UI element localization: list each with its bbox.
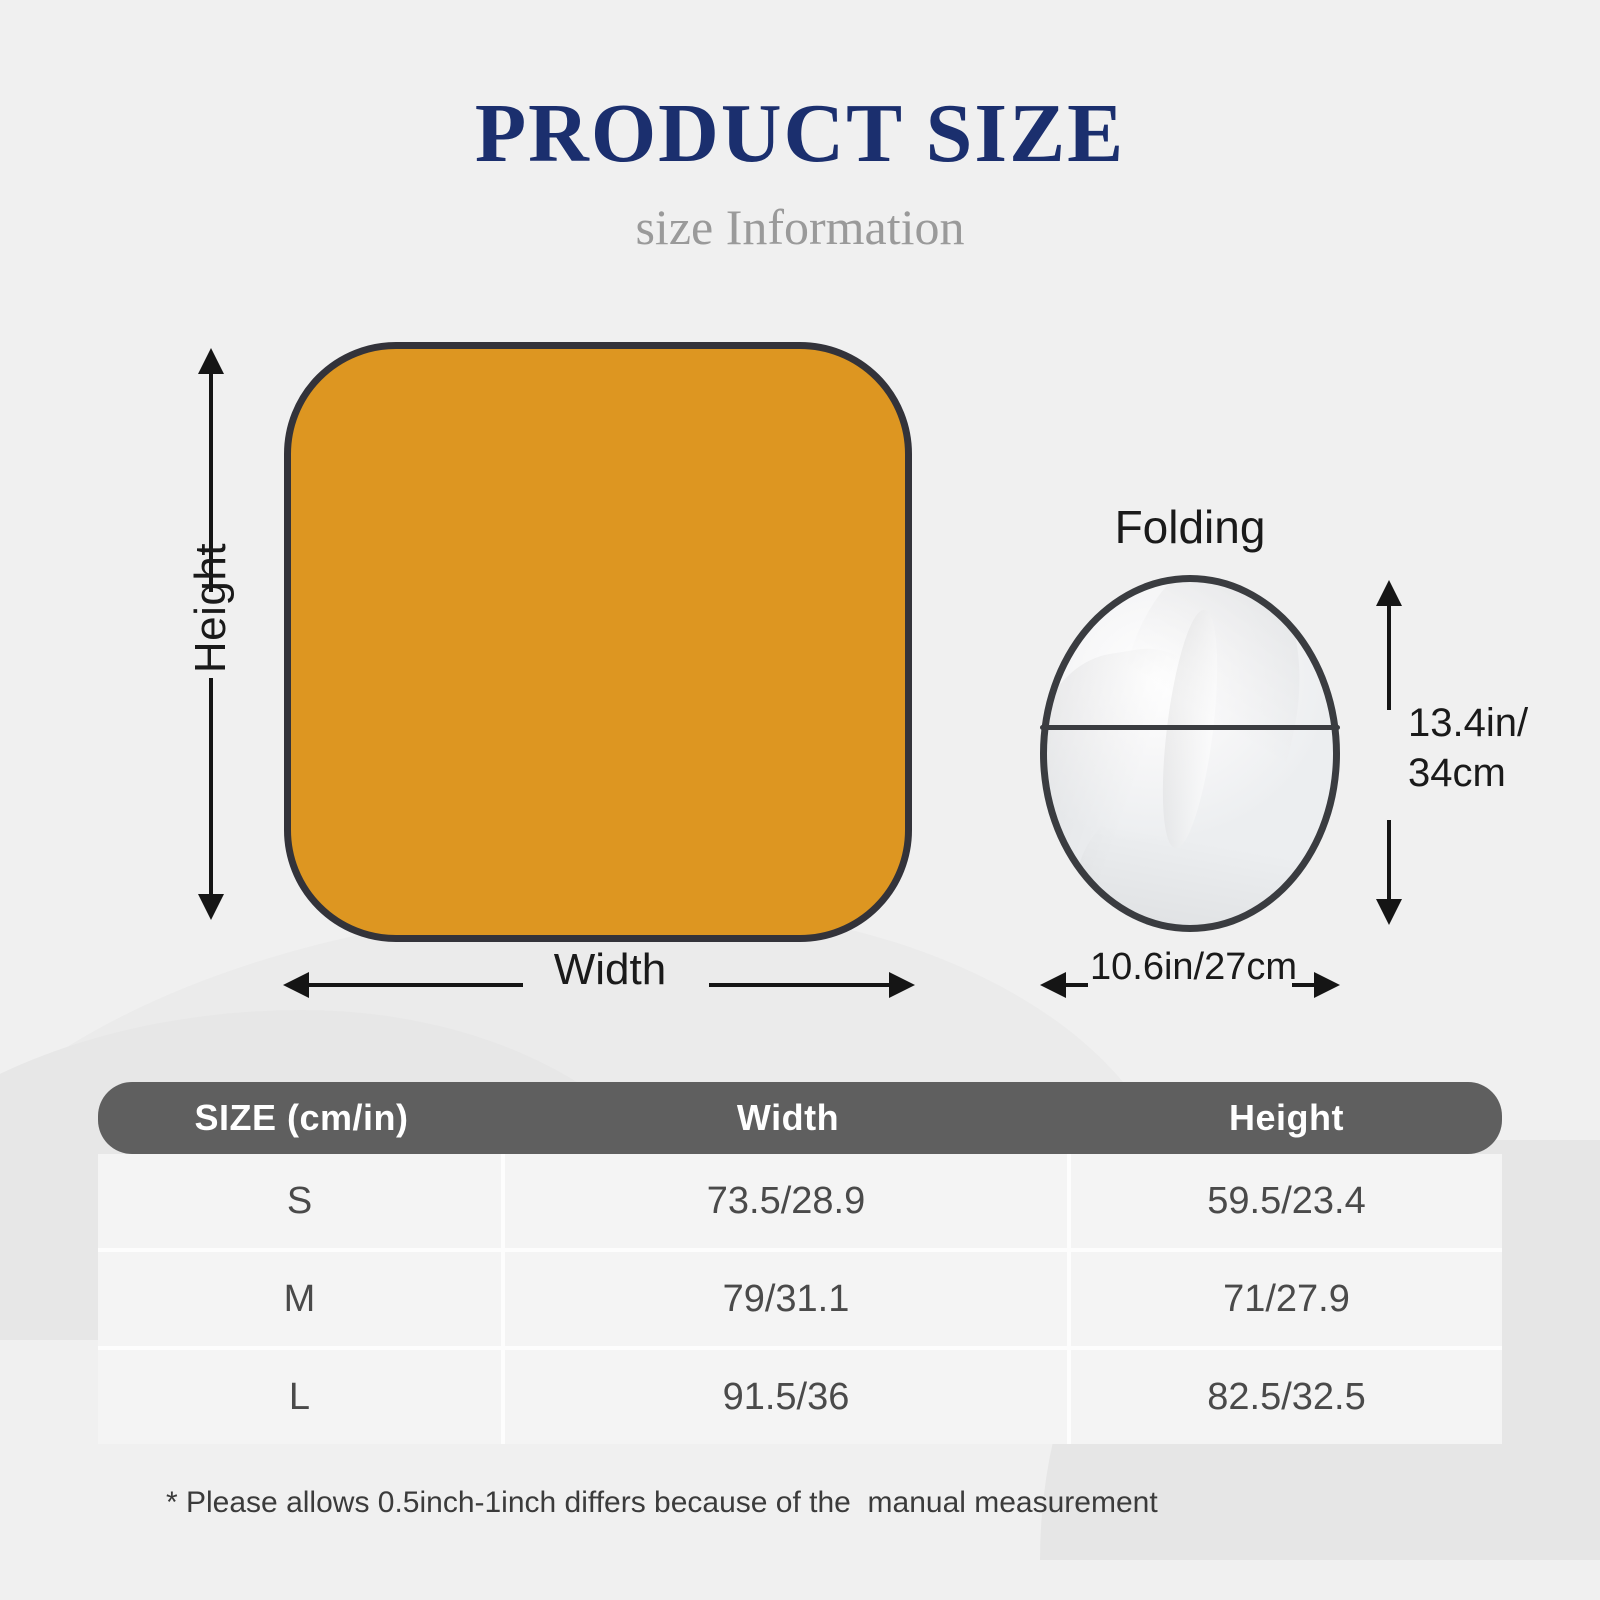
- folding-title: Folding: [1020, 500, 1360, 554]
- cell-size: L: [98, 1350, 505, 1444]
- folding-seam-line: [1040, 725, 1340, 730]
- folding-height-label: 13.4in/ 34cm: [1408, 698, 1568, 798]
- folding-height-label-line2: 34cm: [1408, 748, 1568, 798]
- folding-height-line-bottom: [1387, 820, 1391, 903]
- height-dimension-arrow: Height: [198, 348, 224, 920]
- table-row: L 91.5/36 82.5/32.5: [98, 1350, 1502, 1444]
- cell-width: 73.5/28.9: [505, 1154, 1071, 1248]
- folding-disc: [1040, 575, 1340, 932]
- size-table: SIZE (cm/in) Width Height S 73.5/28.9 59…: [98, 1082, 1502, 1444]
- width-dimension-line-left: [305, 983, 523, 987]
- folding-width-label: 10.6in/27cm: [1090, 946, 1290, 989]
- table-row: M 79/31.1 71/27.9: [98, 1252, 1502, 1350]
- folding-illustration: [1040, 575, 1340, 932]
- table-footnote: * Please allows 0.5inch-1inch differs be…: [166, 1486, 1158, 1520]
- height-label: Height: [186, 505, 236, 711]
- cell-size: M: [98, 1252, 505, 1346]
- product-illustration: [284, 342, 912, 942]
- arrow-right-icon: [1314, 972, 1340, 998]
- cell-width: 91.5/36: [505, 1350, 1071, 1444]
- folding-height-label-line1: 13.4in/: [1408, 698, 1568, 748]
- cell-size: S: [98, 1154, 505, 1248]
- cell-height: 82.5/32.5: [1071, 1350, 1502, 1444]
- heading-block: PRODUCT SIZE size Information: [0, 92, 1600, 252]
- table-header-row: SIZE (cm/in) Width Height: [98, 1082, 1502, 1154]
- arrow-down-icon: [1376, 899, 1402, 925]
- table-header-width: Width: [505, 1082, 1071, 1154]
- cell-height: 59.5/23.4: [1071, 1154, 1502, 1248]
- table-row: S 73.5/28.9 59.5/23.4: [98, 1154, 1502, 1252]
- arrow-right-icon: [889, 972, 915, 998]
- width-label: Width: [525, 945, 695, 995]
- table-header-size: SIZE (cm/in): [98, 1082, 505, 1154]
- folding-width-dimension-arrow: 10.6in/27cm: [1040, 972, 1340, 998]
- arrow-down-icon: [198, 894, 224, 920]
- size-chart-page: PRODUCT SIZE size Information Height Wid…: [0, 0, 1600, 1600]
- folding-width-line-left: [1062, 983, 1088, 987]
- cell-width: 79/31.1: [505, 1252, 1071, 1346]
- height-dimension-line-bottom: [209, 678, 213, 900]
- table-header-height: Height: [1071, 1082, 1502, 1154]
- cell-height: 71/27.9: [1071, 1252, 1502, 1346]
- folding-height-dimension-arrow: 13.4in/ 34cm: [1376, 580, 1402, 925]
- folding-height-line-top: [1387, 602, 1391, 710]
- page-title: PRODUCT SIZE: [0, 92, 1600, 176]
- width-dimension-line-right: [709, 983, 893, 987]
- page-subtitle: size Information: [0, 202, 1600, 252]
- width-dimension-arrow: Width: [283, 972, 915, 998]
